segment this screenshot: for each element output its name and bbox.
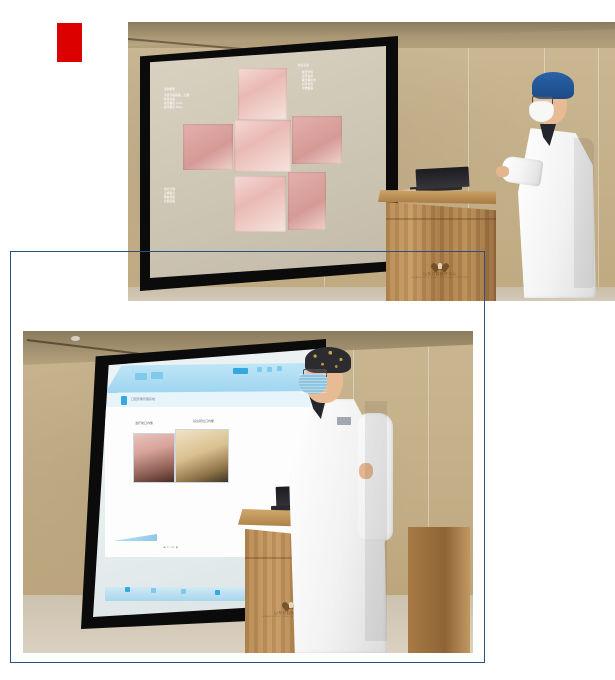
presenter-top: [496, 66, 615, 301]
slide-tile-left-buccal: [292, 116, 342, 164]
taskbar-icon[interactable]: [151, 588, 156, 593]
slide-tile-lower-occlusal: [234, 176, 286, 232]
n95-mask: [529, 101, 554, 122]
slide-tile-detail: [288, 172, 326, 230]
coat-shading: [365, 401, 387, 641]
slide-bullet: 中线偏斜: [302, 87, 316, 91]
taskbar-icon[interactable]: [215, 590, 220, 595]
slide-right-heading: 咬合关系: [298, 64, 309, 68]
laptop-screen: [416, 167, 470, 190]
lecture-room-scene-bottom: 口腔影像管理系统 治疗前口内像 基台就位口内像 ◀ 1 / 12 ▶: [23, 331, 473, 653]
app-section-label-left: 治疗前口内像: [135, 421, 153, 425]
podium-band: [386, 218, 496, 220]
blue-surgical-cap: [532, 72, 574, 99]
slide-tile-upper-occlusal: [238, 68, 287, 120]
slide-right-bullets: 磨牙中性 尖牙远中 覆合覆盖大 后牙中性 中线偏斜: [302, 71, 316, 91]
intraoral-photo-left: [133, 433, 175, 483]
app-action-chip[interactable]: [233, 368, 248, 374]
slide-tile-right-buccal: [183, 124, 233, 170]
slide-bottom-line: 分期实施: [164, 200, 175, 204]
app-section-label-right: 基台就位口内像: [193, 419, 214, 423]
slide-left-heading: 术前检查: [164, 88, 175, 92]
blue-surgical-mask: [299, 374, 327, 394]
slide-tile-frontal: [234, 120, 291, 172]
presenter-bottom: [261, 341, 451, 653]
app-tab-chip: [151, 372, 163, 379]
photo-bottom: 口腔影像管理系统 治疗前口内像 基台就位口内像 ◀ 1 / 12 ▶: [23, 331, 473, 653]
taskbar-icon[interactable]: [125, 587, 130, 592]
red-accent-block: [57, 23, 82, 62]
projection-screen-surface: 术前检查 主诉牙齿缺失，上颌 咬合关系 前牙覆盖 7mm 前牙覆合 5mm 咬合…: [150, 46, 386, 278]
coat-badge: [337, 417, 351, 425]
taskbar-icon[interactable]: [181, 589, 186, 594]
slide-left-line: 前牙覆合 5mm: [164, 106, 189, 110]
coat-shading: [574, 138, 594, 288]
app-tab-chip: [135, 373, 147, 380]
slide-bottom-lines: 治疗计划 正畸联合 种植修复 分期实施: [164, 188, 175, 204]
collage-canvas: 术前检查 主诉牙齿缺失，上颌 咬合关系 前牙覆盖 7mm 前牙覆合 5mm 咬合…: [0, 0, 615, 680]
slide-left-lines: 主诉牙齿缺失，上颌 咬合关系 前牙覆盖 7mm 前牙覆合 5mm: [164, 94, 189, 110]
app-pager-label: ◀ 1 / 12 ▶: [163, 545, 178, 549]
ceiling-spotlight-icon: [71, 336, 80, 341]
hand: [496, 166, 509, 177]
intraoral-photo-right: [175, 429, 229, 483]
slide-intraoral-series: 术前检查 主诉牙齿缺失，上颌 咬合关系 前牙覆盖 7mm 前牙覆合 5mm 咬合…: [150, 46, 386, 278]
app-logo-chip: [121, 396, 127, 405]
podium-top: [378, 190, 496, 204]
app-title-label: 口腔影像管理系统: [131, 397, 155, 401]
